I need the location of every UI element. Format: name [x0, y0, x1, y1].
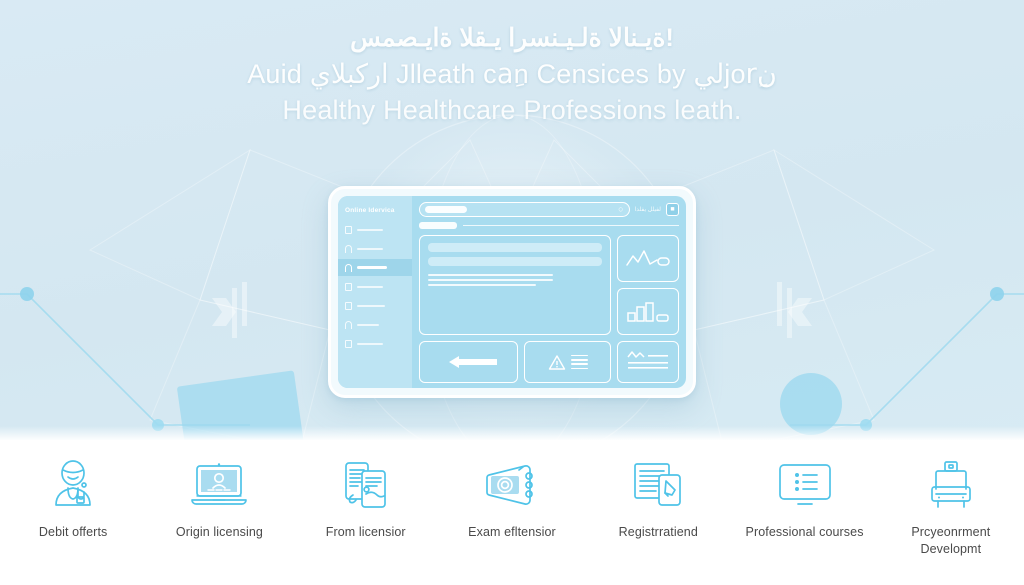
search-icon[interactable]: ○	[618, 205, 623, 214]
feature-item[interactable]: Registrratiend	[585, 456, 731, 541]
device-sidebar-item-label	[357, 305, 385, 307]
bar-chart-glyph	[624, 300, 672, 324]
form-field[interactable]	[428, 243, 602, 252]
feature-label: Prcyeonrment Developmt	[884, 524, 1018, 557]
feature-strip: Debit offerts Origin licensing	[0, 440, 1024, 585]
doctor-icon	[42, 456, 104, 514]
device-subbar	[419, 222, 679, 229]
headline-arabic-line: !ةيـنالا ةلـيـنسرا يـقلا ةايـصمس	[0, 22, 1024, 55]
device-sidebar-item[interactable]	[338, 240, 412, 257]
headline-block: !ةيـنالا ةلـيـنسرا يـقلا ةايـصمس Auid ار…	[0, 22, 1024, 128]
checkbox-icon	[345, 340, 352, 348]
device-sidebar-item-label	[357, 343, 383, 345]
device-search-field[interactable]: ○	[419, 202, 630, 217]
device-search-value	[425, 206, 467, 213]
report-chart-icon[interactable]	[617, 341, 679, 383]
device-arabic-label: لفيلل يفلدا	[635, 206, 661, 213]
camera-glyph	[483, 461, 541, 509]
headline-mixed-line: Auid اركبلاي Jlleath caِn Censices by لي…	[0, 57, 1024, 93]
document-pen-icon	[627, 456, 689, 514]
feature-item[interactable]: Origin licensing	[146, 456, 292, 541]
monitor-list-icon	[774, 456, 836, 514]
feature-label: Exam efltensior	[468, 524, 556, 541]
device-body	[419, 235, 679, 383]
laptop-video-call-icon	[188, 456, 250, 514]
arch-icon	[345, 264, 352, 272]
checkbox-icon	[345, 226, 352, 234]
form-field[interactable]	[428, 257, 602, 266]
device-form-card	[419, 235, 611, 335]
node-chain-right	[790, 287, 1024, 431]
monitor-list-glyph	[776, 461, 834, 509]
panel-icon[interactable]: ■	[666, 203, 679, 216]
line-chart-glyph	[624, 247, 672, 271]
back-arrow-glyph	[437, 354, 501, 370]
arch-icon	[345, 321, 352, 329]
device-sidebar-title: Online Idervica	[338, 204, 412, 219]
checkbox-icon	[345, 302, 352, 310]
form-line	[428, 279, 553, 281]
feature-item[interactable]: Exam efltensior	[439, 456, 585, 541]
device-sidebar-item[interactable]	[338, 297, 412, 314]
back-arrow-icon[interactable]	[419, 341, 518, 383]
device-sidebar-item-active[interactable]	[338, 259, 412, 276]
device-screen: Online Idervica	[338, 196, 686, 388]
device-sidebar-item[interactable]	[338, 221, 412, 238]
device-sidebar-item[interactable]	[338, 278, 412, 295]
feature-label: Registrratiend	[619, 524, 698, 541]
promotional-banner: !ةيـنالا ةلـيـنسرا يـقلا ةايـصمس Auid ار…	[0, 0, 1024, 585]
line-chart-icon[interactable]	[617, 235, 679, 282]
form-line	[428, 274, 553, 276]
bar-chart-icon[interactable]	[617, 288, 679, 335]
device-sidebar-item-label	[357, 248, 383, 250]
feature-item[interactable]: From licensior	[293, 456, 439, 541]
device-sidebar-item-label	[357, 286, 383, 288]
scanner-glyph	[925, 459, 977, 511]
camera-exam-icon	[481, 456, 543, 514]
form-text-lines	[428, 274, 602, 286]
device-sidebar-item-label	[357, 229, 383, 231]
feature-label: Professional courses	[746, 524, 864, 541]
device-main-content: ○ لفيلل يفلدا ■	[412, 196, 686, 388]
report-chart-glyph	[624, 349, 672, 375]
device-topbar: ○ لفيلل يفلدا ■	[419, 202, 679, 217]
device-bottom-row	[419, 341, 611, 383]
chevron-motif-right	[777, 282, 812, 338]
alert-text-lines	[571, 355, 588, 370]
feature-label: Debit offerts	[39, 524, 107, 541]
feature-item[interactable]: Professional courses	[731, 456, 877, 541]
device-sidebar-item[interactable]	[338, 335, 412, 352]
device-right-column	[617, 235, 679, 383]
tablet-device-mockup: Online Idervica	[328, 186, 696, 398]
headline-english-line: Healthy Healthcare Professions leath.	[0, 93, 1024, 129]
scanner-icon	[920, 456, 982, 514]
laptop-glyph	[189, 459, 249, 511]
feature-label: Origin licensing	[176, 524, 263, 541]
feature-item[interactable]: Prcyeonrment Developmt	[878, 456, 1024, 557]
device-subbar-rule	[463, 225, 679, 227]
feature-label: From licensior	[326, 524, 406, 541]
warning-triangle-icon	[548, 354, 566, 371]
mobile-documents-icon	[335, 456, 397, 514]
device-alert-card[interactable]	[524, 341, 611, 383]
node-chain-left	[0, 287, 250, 431]
device-sidebar-item-label	[357, 324, 379, 326]
device-sidebar-item-label	[357, 266, 387, 269]
device-sidebar-item[interactable]	[338, 316, 412, 333]
mobile-documents-glyph	[339, 458, 393, 512]
device-sidebar: Online Idervica	[338, 196, 412, 388]
chevron-motif-left	[212, 282, 247, 338]
checkbox-icon	[345, 283, 352, 291]
document-pen-glyph	[630, 459, 686, 511]
doctor-glyph	[45, 457, 101, 513]
device-left-column	[419, 235, 611, 383]
device-subbar-pill	[419, 222, 457, 229]
feature-item[interactable]: Debit offerts	[0, 456, 146, 541]
arch-icon	[345, 245, 352, 253]
form-line	[428, 284, 536, 286]
